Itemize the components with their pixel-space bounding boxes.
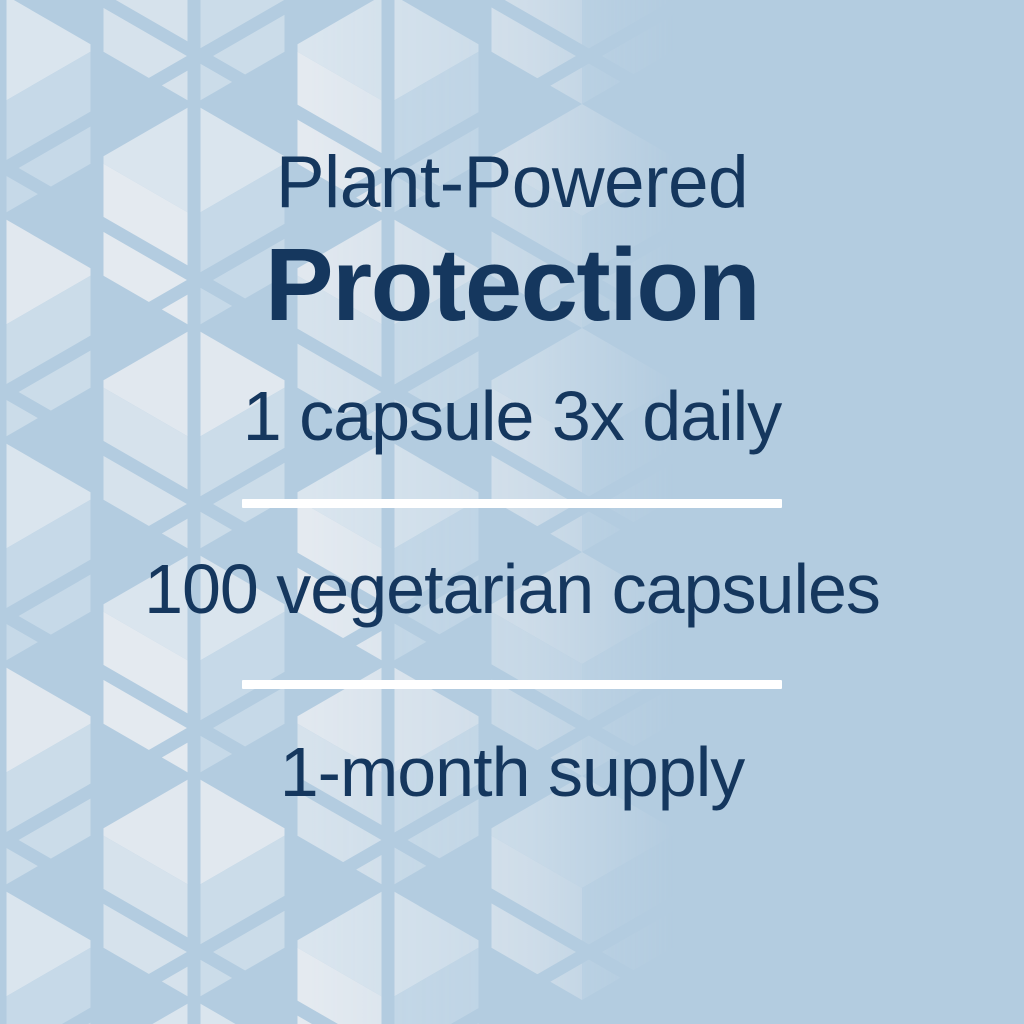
fact-count: 100 vegetarian capsules bbox=[144, 554, 880, 624]
eyebrow-text: Plant-Powered bbox=[276, 146, 748, 219]
fact-supply: 1-month supply bbox=[280, 737, 745, 807]
page-title: Protection bbox=[265, 233, 759, 336]
fact-dosage: 1 capsule 3x daily bbox=[243, 381, 781, 451]
copy-stack: Plant-Powered Protection 1 capsule 3x da… bbox=[0, 0, 1024, 1024]
divider-rule-2 bbox=[242, 680, 782, 689]
product-feature-panel: Plant-Powered Protection 1 capsule 3x da… bbox=[0, 0, 1024, 1024]
divider-rule-1 bbox=[242, 499, 782, 508]
